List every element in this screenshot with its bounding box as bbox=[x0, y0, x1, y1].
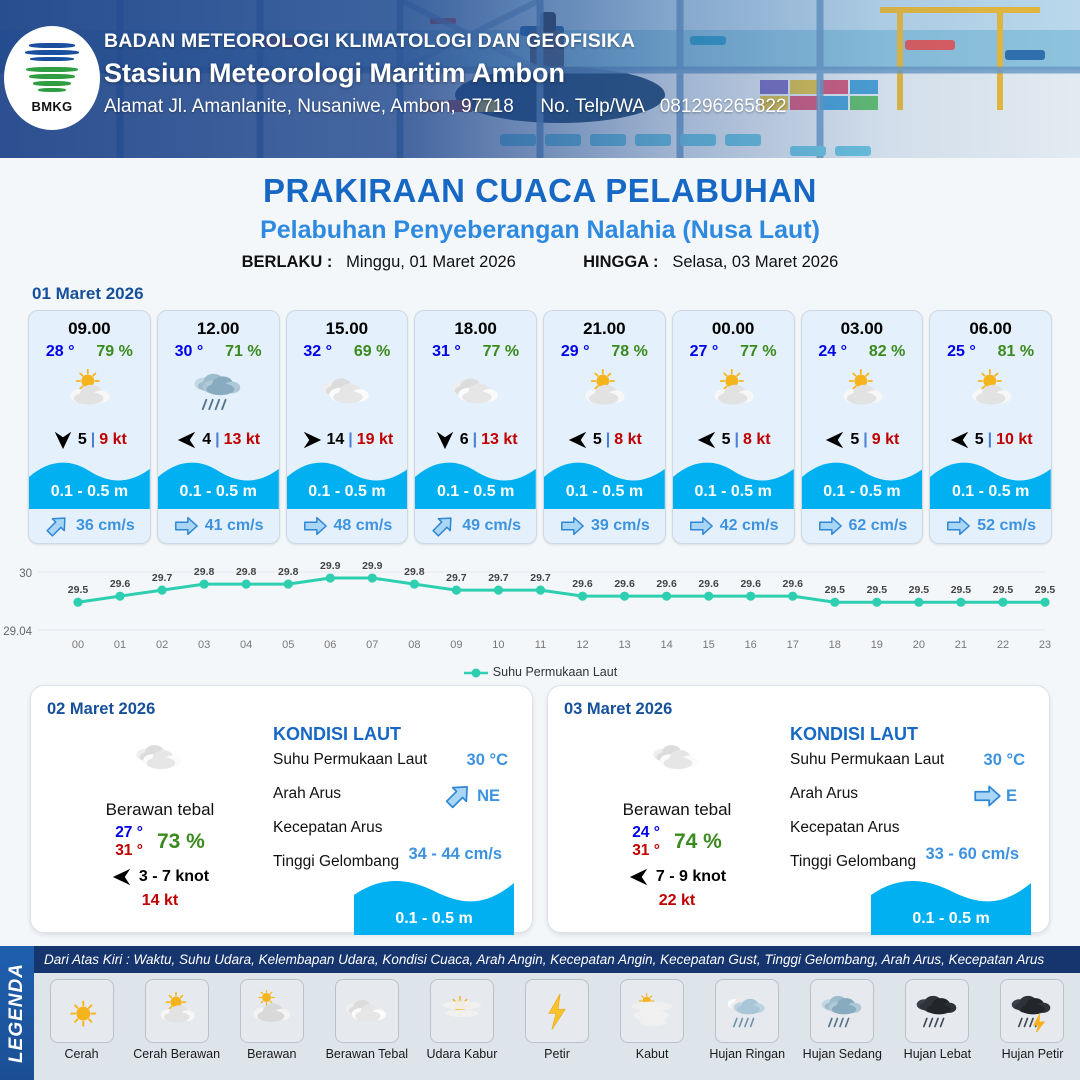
card-wave-height: 0.1 - 0.5 m bbox=[544, 483, 665, 501]
card-weather-icon bbox=[673, 361, 794, 423]
berawan-tebal-icon bbox=[131, 734, 189, 782]
card-temp-humidity: 31 ° 77 % bbox=[415, 339, 536, 361]
card-wind-value: 5 bbox=[78, 431, 87, 449]
legend-note: Dari Atas Kiri : Waktu, Suhu Udara, Kele… bbox=[34, 946, 1080, 973]
card-wave-band: 0.1 - 0.5 m bbox=[415, 457, 536, 509]
card-wind-value: 5 bbox=[722, 431, 731, 449]
card-temp-humidity: 24 ° 82 % bbox=[802, 339, 923, 361]
card-current-speed: 62 cm/s bbox=[849, 517, 908, 535]
legend-item: Berawan Tebal bbox=[319, 979, 414, 1061]
card-wind-value: 14 bbox=[327, 431, 345, 449]
card-wind-row: 6 | 13 kt bbox=[415, 423, 536, 457]
svg-text:18: 18 bbox=[829, 639, 841, 651]
valid-until-value: Selasa, 03 Maret 2026 bbox=[672, 253, 838, 271]
card-time: 09.00 bbox=[29, 311, 150, 339]
svg-text:29.5: 29.5 bbox=[867, 584, 888, 596]
card-current-row: 52 cm/s bbox=[930, 509, 1051, 543]
card-gust-value: 13 kt bbox=[481, 431, 517, 449]
sea-row-label: Suhu Permukaan Laut bbox=[790, 751, 944, 768]
card-gust-value: 8 kt bbox=[614, 431, 642, 449]
card-wave-band: 0.1 - 0.5 m bbox=[544, 457, 665, 509]
svg-text:17: 17 bbox=[787, 639, 799, 651]
udara-kabur-icon bbox=[436, 990, 488, 1033]
card-gust-value: 9 kt bbox=[872, 431, 900, 449]
svg-text:23: 23 bbox=[1039, 639, 1051, 651]
logo-sky-arcs bbox=[24, 43, 80, 65]
kabut-icon bbox=[626, 990, 678, 1033]
chart-legend-marker bbox=[463, 667, 489, 679]
sea-conditions-heading: KONDISI LAUT bbox=[790, 724, 1035, 745]
current-direction-arrow-ne bbox=[430, 513, 456, 539]
card-time: 21.00 bbox=[544, 311, 665, 339]
svg-text:14: 14 bbox=[660, 639, 672, 651]
panel-date: 02 Maret 2026 bbox=[47, 700, 516, 719]
legend-item-label: Hujan Ringan bbox=[700, 1047, 795, 1061]
svg-text:05: 05 bbox=[282, 639, 294, 651]
validity-row: BERLAKU : Minggu, 01 Maret 2026 HINGGA :… bbox=[0, 253, 1080, 272]
wind-direction-arrow-w bbox=[176, 429, 198, 451]
card-wind-value: 6 bbox=[460, 431, 469, 449]
sea-row-label: Suhu Permukaan Laut bbox=[273, 751, 427, 768]
hujan-petir-icon bbox=[1006, 990, 1058, 1033]
sea-row-value: 30 °C bbox=[984, 751, 1025, 770]
svg-text:12: 12 bbox=[576, 639, 588, 651]
card-time: 00.00 bbox=[673, 311, 794, 339]
wind-separator: | bbox=[215, 431, 219, 449]
forecast-card: 00.00 27 ° 77 % 5 | 8 kt 0.1 - 0.5 m bbox=[672, 310, 795, 544]
page-header: BMKG BADAN METEOROLOGI KLIMATOLOGI DAN G… bbox=[0, 0, 1080, 158]
svg-text:20: 20 bbox=[913, 639, 925, 651]
svg-text:29.5: 29.5 bbox=[825, 584, 846, 596]
wind-separator: | bbox=[735, 431, 739, 449]
daily-summary-panel: 03 Maret 2026 Berawan tebal 24 ° 31 ° 74… bbox=[547, 685, 1050, 933]
card-gust-value: 8 kt bbox=[743, 431, 771, 449]
panel-weather-icon bbox=[572, 730, 782, 786]
card-current-speed: 41 cm/s bbox=[205, 517, 264, 535]
svg-text:02: 02 bbox=[156, 639, 168, 651]
legend-item: Hujan Sedang bbox=[795, 979, 890, 1061]
sea-row-wave-height: Tinggi Gelombang 0.1 - 0.5 m bbox=[273, 853, 518, 887]
valid-from-value: Minggu, 01 Maret 2026 bbox=[346, 253, 516, 271]
legend-icon-box bbox=[810, 979, 874, 1043]
card-wave-height: 0.1 - 0.5 m bbox=[415, 483, 536, 501]
page-title: PRAKIRAAN CUACA PELABUHAN bbox=[0, 172, 1080, 210]
cerah-berawan-icon bbox=[703, 367, 763, 416]
hujan-lebat-icon bbox=[911, 990, 963, 1033]
legend-item-label: Hujan Sedang bbox=[795, 1047, 890, 1061]
bmkg-logo: BMKG bbox=[4, 26, 100, 130]
forecast-card: 09.00 28 ° 79 % 5 | 9 kt 0.1 - 0.5 m bbox=[28, 310, 151, 544]
current-direction-arrow-e bbox=[173, 513, 199, 539]
forecast-card: 12.00 30 ° 71 % 4 | 13 kt 0.1 - 0.5 m bbox=[157, 310, 280, 544]
legend-icon-box bbox=[335, 979, 399, 1043]
wind-direction-arrow-w bbox=[824, 429, 846, 451]
card-wave-band: 0.1 - 0.5 m bbox=[930, 457, 1051, 509]
current-direction-arrow-e bbox=[972, 781, 1002, 811]
card-wind-row: 5 | 9 kt bbox=[802, 423, 923, 457]
svg-text:29.7: 29.7 bbox=[488, 572, 509, 584]
card-wave-band: 0.1 - 0.5 m bbox=[673, 457, 794, 509]
card-wind-row: 4 | 13 kt bbox=[158, 423, 279, 457]
card-temp-humidity: 30 ° 71 % bbox=[158, 339, 279, 361]
card-current-row: 36 cm/s bbox=[29, 509, 150, 543]
sea-row-label: Kecepatan Arus bbox=[790, 819, 899, 836]
sea-row-current-direction: Arah Arus E bbox=[790, 785, 1035, 819]
card-weather-icon bbox=[29, 361, 150, 423]
svg-text:29.6: 29.6 bbox=[740, 578, 761, 590]
svg-text:29.8: 29.8 bbox=[404, 566, 425, 578]
card-gust-value: 10 kt bbox=[996, 431, 1032, 449]
card-temp-humidity: 32 ° 69 % bbox=[287, 339, 408, 361]
legend-item: Berawan bbox=[224, 979, 319, 1061]
panel-temp-range: 24 ° 31 ° bbox=[632, 824, 660, 860]
phone-label: No. Telp/WA bbox=[540, 96, 644, 117]
card-time: 06.00 bbox=[930, 311, 1051, 339]
sea-row-value: 30 °C bbox=[467, 751, 508, 770]
svg-text:29.6: 29.6 bbox=[110, 578, 131, 590]
wind-separator: | bbox=[473, 431, 477, 449]
panel-temp-min: 27 ° bbox=[115, 824, 143, 842]
legend-item-label: Udara Kabur bbox=[414, 1047, 509, 1061]
card-current-speed: 42 cm/s bbox=[720, 517, 779, 535]
card-weather-icon bbox=[415, 361, 536, 423]
card-wind-value: 5 bbox=[975, 431, 984, 449]
svg-text:29.8: 29.8 bbox=[278, 566, 299, 578]
legend-icon-box bbox=[240, 979, 304, 1043]
svg-text:22: 22 bbox=[997, 639, 1009, 651]
svg-text:08: 08 bbox=[408, 639, 420, 651]
panel-wave-height: 0.1 - 0.5 m bbox=[354, 910, 514, 928]
card-weather-icon bbox=[544, 361, 665, 423]
svg-text:01: 01 bbox=[114, 639, 126, 651]
legend-item: Cerah bbox=[34, 979, 129, 1061]
title-block: PRAKIRAAN CUACA PELABUHAN Pelabuhan Peny… bbox=[0, 158, 1080, 272]
svg-text:10: 10 bbox=[492, 639, 504, 651]
card-current-speed: 49 cm/s bbox=[462, 517, 521, 535]
svg-text:29.7: 29.7 bbox=[446, 572, 467, 584]
card-humidity: 69 % bbox=[354, 343, 390, 361]
legend-item: Petir bbox=[509, 979, 604, 1061]
panel-sea-conditions: KONDISI LAUT Suhu Permukaan Laut 30 °C A… bbox=[273, 724, 518, 887]
legend-item-label: Cerah Berawan bbox=[129, 1047, 224, 1061]
card-current-row: 49 cm/s bbox=[415, 509, 536, 543]
wind-direction-arrow-w bbox=[949, 429, 971, 451]
svg-text:09: 09 bbox=[450, 639, 462, 651]
card-wave-band: 0.1 - 0.5 m bbox=[29, 457, 150, 509]
card-wave-band: 0.1 - 0.5 m bbox=[158, 457, 279, 509]
card-temperature: 25 ° bbox=[947, 343, 976, 361]
svg-text:29.6: 29.6 bbox=[783, 578, 804, 590]
card-time: 12.00 bbox=[158, 311, 279, 339]
panel-temp-min: 24 ° bbox=[632, 824, 660, 842]
valid-from-label: BERLAKU : bbox=[242, 253, 333, 271]
card-temperature: 24 ° bbox=[818, 343, 847, 361]
panel-left-column: Berawan tebal 24 ° 31 ° 74 % 7 - 9 knot … bbox=[572, 730, 782, 910]
legend-item-label: Cerah bbox=[34, 1047, 129, 1061]
legend-icon-box bbox=[525, 979, 589, 1043]
legend-icon-box bbox=[430, 979, 494, 1043]
panel-wave-band: 0.1 - 0.5 m bbox=[354, 873, 514, 935]
daily-summary-panel: 02 Maret 2026 Berawan tebal 27 ° 31 ° 73… bbox=[30, 685, 533, 933]
card-humidity: 78 % bbox=[611, 343, 647, 361]
svg-text:29.7: 29.7 bbox=[530, 572, 551, 584]
svg-text:04: 04 bbox=[240, 639, 252, 651]
panel-gust: 14 kt bbox=[55, 892, 265, 910]
svg-text:21: 21 bbox=[955, 639, 967, 651]
wind-direction-arrow-e bbox=[301, 429, 323, 451]
sst-chart-svg: 3029.0429.50029.60129.70229.80329.80429.… bbox=[0, 558, 1080, 658]
card-humidity: 82 % bbox=[869, 343, 905, 361]
sea-row-label: Kecepatan Arus bbox=[273, 819, 382, 836]
wind-direction-arrow-w bbox=[111, 866, 133, 888]
sea-row-label: Tinggi Gelombang bbox=[273, 853, 399, 870]
card-current-row: 39 cm/s bbox=[544, 509, 665, 543]
current-direction-arrow-e bbox=[688, 513, 714, 539]
card-current-speed: 48 cm/s bbox=[334, 517, 393, 535]
legend-item: Kabut bbox=[605, 979, 700, 1061]
legend-footer: LEGENDA Dari Atas Kiri : Waktu, Suhu Uda… bbox=[0, 946, 1080, 1080]
card-weather-icon bbox=[930, 361, 1051, 423]
svg-text:30: 30 bbox=[19, 568, 32, 580]
hujan-sedang-icon bbox=[816, 990, 868, 1033]
valid-until-label: HINGGA : bbox=[583, 253, 658, 271]
panel-temp-max: 31 ° bbox=[632, 842, 660, 860]
svg-text:29.5: 29.5 bbox=[1035, 584, 1056, 596]
panel-wind-range: 3 - 7 knot bbox=[139, 868, 209, 886]
legend-item-row: Cerah Cerah Berawan Berawan Berawan Teba… bbox=[34, 973, 1080, 1080]
card-wave-height: 0.1 - 0.5 m bbox=[802, 483, 923, 501]
panel-temp-humidity: 27 ° 31 ° 73 % bbox=[55, 824, 265, 860]
svg-text:15: 15 bbox=[703, 639, 715, 651]
legend-item: Hujan Lebat bbox=[890, 979, 985, 1061]
card-wind-row: 5 | 8 kt bbox=[544, 423, 665, 457]
petir-icon bbox=[531, 990, 583, 1033]
svg-text:11: 11 bbox=[535, 639, 546, 651]
card-wave-height: 0.1 - 0.5 m bbox=[673, 483, 794, 501]
sea-row-wave-height: Tinggi Gelombang 0.1 - 0.5 m bbox=[790, 853, 1035, 887]
card-temperature: 27 ° bbox=[690, 343, 719, 361]
wind-direction-arrow-s bbox=[52, 429, 74, 451]
card-temp-humidity: 25 ° 81 % bbox=[930, 339, 1051, 361]
card-humidity: 77 % bbox=[740, 343, 776, 361]
wind-separator: | bbox=[348, 431, 352, 449]
sea-row-value-with-arrow: NE bbox=[443, 781, 500, 811]
panel-wind-range: 7 - 9 knot bbox=[656, 868, 726, 886]
berawan-tebal-icon bbox=[446, 367, 506, 416]
panel-temp-range: 27 ° 31 ° bbox=[115, 824, 143, 860]
svg-text:29.6: 29.6 bbox=[656, 578, 677, 590]
card-temperature: 28 ° bbox=[46, 343, 75, 361]
berawan-tebal-icon bbox=[648, 734, 706, 782]
svg-text:29.9: 29.9 bbox=[320, 560, 341, 572]
header-text-block: BADAN METEOROLOGI KLIMATOLOGI DAN GEOFIS… bbox=[104, 30, 787, 118]
berawan-tebal-icon bbox=[341, 990, 393, 1033]
panel-condition: Berawan tebal bbox=[55, 800, 265, 820]
address-line: Alamat Jl. Amanlanite, Nusaniwe, Ambon, … bbox=[104, 96, 787, 118]
svg-text:29.5: 29.5 bbox=[909, 584, 930, 596]
card-temp-humidity: 29 ° 78 % bbox=[544, 339, 665, 361]
page-subtitle: Pelabuhan Penyeberangan Nalahia (Nusa La… bbox=[0, 216, 1080, 245]
panel-wave-band: 0.1 - 0.5 m bbox=[871, 873, 1031, 935]
card-wave-height: 0.1 - 0.5 m bbox=[29, 483, 150, 501]
card-current-speed: 39 cm/s bbox=[591, 517, 650, 535]
forecast-card: 03.00 24 ° 82 % 5 | 9 kt 0.1 - 0.5 m bbox=[801, 310, 924, 544]
card-weather-icon bbox=[287, 361, 408, 423]
chart-legend: Suhu Permukaan Laut bbox=[0, 665, 1080, 679]
sea-row-current-direction: Arah Arus NE bbox=[273, 785, 518, 819]
card-temperature: 29 ° bbox=[561, 343, 590, 361]
wind-separator: | bbox=[988, 431, 992, 449]
legend-icon-box bbox=[145, 979, 209, 1043]
chart-legend-label: Suhu Permukaan Laut bbox=[493, 665, 617, 679]
daily-panels: 02 Maret 2026 Berawan tebal 27 ° 31 ° 73… bbox=[0, 679, 1080, 933]
legend-item-label: Berawan Tebal bbox=[319, 1047, 414, 1061]
forecast-card: 21.00 29 ° 78 % 5 | 8 kt 0.1 - 0.5 m bbox=[543, 310, 666, 544]
card-wind-value: 4 bbox=[202, 431, 211, 449]
current-direction-arrow-e bbox=[817, 513, 843, 539]
card-current-row: 48 cm/s bbox=[287, 509, 408, 543]
wind-separator: | bbox=[91, 431, 95, 449]
forecast-card: 18.00 31 ° 77 % 6 | 13 kt 0.1 - 0.5 m bbox=[414, 310, 537, 544]
card-temp-humidity: 27 ° 77 % bbox=[673, 339, 794, 361]
legend-item-label: Petir bbox=[509, 1047, 604, 1061]
card-humidity: 71 % bbox=[225, 343, 261, 361]
svg-text:29.6: 29.6 bbox=[698, 578, 719, 590]
panel-temp-max: 31 ° bbox=[115, 842, 143, 860]
legend-icon-box bbox=[715, 979, 779, 1043]
sea-row-value-with-arrow: E bbox=[972, 781, 1017, 811]
svg-text:03: 03 bbox=[198, 639, 210, 651]
legend-item-label: Hujan Lebat bbox=[890, 1047, 985, 1061]
panel-date: 03 Maret 2026 bbox=[564, 700, 1033, 719]
current-direction-arrow-e bbox=[302, 513, 328, 539]
legend-body: Dari Atas Kiri : Waktu, Suhu Udara, Kele… bbox=[34, 946, 1080, 1080]
cerah-berawan-icon bbox=[832, 367, 892, 416]
card-wave-height: 0.1 - 0.5 m bbox=[287, 483, 408, 501]
sea-row-label: Tinggi Gelombang bbox=[790, 853, 916, 870]
card-humidity: 79 % bbox=[96, 343, 132, 361]
svg-text:13: 13 bbox=[618, 639, 630, 651]
current-direction-arrow-e bbox=[945, 513, 971, 539]
card-current-speed: 36 cm/s bbox=[76, 517, 135, 535]
legend-item: Hujan Petir bbox=[985, 979, 1080, 1061]
logo-green-arcs bbox=[24, 67, 80, 97]
sst-chart: 3029.0429.50029.60129.70229.80329.80429.… bbox=[0, 558, 1080, 663]
legend-side-label: LEGENDA bbox=[6, 963, 28, 1063]
legend-item-label: Kabut bbox=[605, 1047, 700, 1061]
card-wind-value: 5 bbox=[593, 431, 602, 449]
sea-row-sst: Suhu Permukaan Laut 30 °C bbox=[273, 751, 518, 785]
card-gust-value: 13 kt bbox=[224, 431, 260, 449]
svg-text:06: 06 bbox=[324, 639, 336, 651]
svg-text:29.9: 29.9 bbox=[362, 560, 383, 572]
sea-conditions-heading: KONDISI LAUT bbox=[273, 724, 518, 745]
svg-text:29.8: 29.8 bbox=[194, 566, 215, 578]
card-current-row: 42 cm/s bbox=[673, 509, 794, 543]
legend-item-label: Berawan bbox=[224, 1047, 319, 1061]
forecast-date-label: 01 Maret 2026 bbox=[32, 284, 1080, 304]
card-temperature: 31 ° bbox=[432, 343, 461, 361]
svg-text:29.5: 29.5 bbox=[68, 584, 89, 596]
legend-icon-box bbox=[1000, 979, 1064, 1043]
wind-direction-arrow-s bbox=[434, 429, 456, 451]
card-wind-row: 5 | 8 kt bbox=[673, 423, 794, 457]
forecast-card: 06.00 25 ° 81 % 5 | 10 kt 0.1 - 0.5 m bbox=[929, 310, 1052, 544]
card-wave-band: 0.1 - 0.5 m bbox=[802, 457, 923, 509]
forecast-card-row: 09.00 28 ° 79 % 5 | 9 kt 0.1 - 0.5 m bbox=[0, 310, 1080, 544]
panel-wind-row: 3 - 7 knot bbox=[55, 866, 265, 888]
sea-row-current-speed: Kecepatan Arus 33 - 60 cm/s bbox=[790, 819, 1035, 853]
panel-sea-conditions: KONDISI LAUT Suhu Permukaan Laut 30 °C A… bbox=[790, 724, 1035, 887]
card-temperature: 30 ° bbox=[175, 343, 204, 361]
berawan-tebal-icon bbox=[317, 367, 377, 416]
card-wave-height: 0.1 - 0.5 m bbox=[158, 483, 279, 501]
cerah-berawan-icon bbox=[151, 990, 203, 1033]
svg-text:29.04: 29.04 bbox=[3, 626, 32, 638]
card-gust-value: 9 kt bbox=[99, 431, 127, 449]
phone-number: 081296265822 bbox=[660, 96, 787, 117]
svg-text:29.5: 29.5 bbox=[951, 584, 972, 596]
sea-row-current-speed: Kecepatan Arus 34 - 44 cm/s bbox=[273, 819, 518, 853]
legend-item: Udara Kabur bbox=[414, 979, 509, 1061]
cerah-berawan-icon bbox=[961, 367, 1021, 416]
card-wind-value: 5 bbox=[850, 431, 859, 449]
station-name: Stasiun Meteorologi Maritim Ambon bbox=[104, 58, 787, 89]
card-wind-row: 14 | 19 kt bbox=[287, 423, 408, 457]
sea-row-value: E bbox=[1006, 787, 1017, 806]
cerah-icon bbox=[56, 990, 108, 1033]
card-wind-row: 5 | 10 kt bbox=[930, 423, 1051, 457]
card-weather-icon bbox=[802, 361, 923, 423]
agency-name: BADAN METEOROLOGI KLIMATOLOGI DAN GEOFIS… bbox=[104, 30, 787, 53]
panel-humidity: 73 % bbox=[157, 830, 205, 854]
wind-separator: | bbox=[863, 431, 867, 449]
wind-separator: | bbox=[606, 431, 610, 449]
card-current-row: 41 cm/s bbox=[158, 509, 279, 543]
svg-text:29.5: 29.5 bbox=[993, 584, 1014, 596]
current-direction-arrow-e bbox=[559, 513, 585, 539]
svg-text:00: 00 bbox=[72, 639, 84, 651]
address-text: Alamat Jl. Amanlanite, Nusaniwe, Ambon, … bbox=[104, 96, 514, 117]
card-current-speed: 52 cm/s bbox=[977, 517, 1036, 535]
wind-direction-arrow-w bbox=[696, 429, 718, 451]
card-time: 18.00 bbox=[415, 311, 536, 339]
legend-icon-box bbox=[620, 979, 684, 1043]
card-wind-row: 5 | 9 kt bbox=[29, 423, 150, 457]
panel-wave-height: 0.1 - 0.5 m bbox=[871, 910, 1031, 928]
card-humidity: 77 % bbox=[483, 343, 519, 361]
panel-left-column: Berawan tebal 27 ° 31 ° 73 % 3 - 7 knot … bbox=[55, 730, 265, 910]
svg-text:16: 16 bbox=[745, 639, 757, 651]
hujan-sedang-icon bbox=[188, 367, 248, 416]
panel-weather-icon bbox=[55, 730, 265, 786]
card-time: 03.00 bbox=[802, 311, 923, 339]
legend-side-bar: LEGENDA bbox=[0, 946, 34, 1080]
card-current-row: 62 cm/s bbox=[802, 509, 923, 543]
wind-direction-arrow-w bbox=[628, 866, 650, 888]
sea-row-value: NE bbox=[477, 787, 500, 806]
sea-row-sst: Suhu Permukaan Laut 30 °C bbox=[790, 751, 1035, 785]
legend-item: Hujan Ringan bbox=[700, 979, 795, 1061]
card-humidity: 81 % bbox=[998, 343, 1034, 361]
svg-text:29.7: 29.7 bbox=[152, 572, 173, 584]
card-wave-height: 0.1 - 0.5 m bbox=[930, 483, 1051, 501]
card-temp-humidity: 28 ° 79 % bbox=[29, 339, 150, 361]
svg-text:19: 19 bbox=[871, 639, 883, 651]
wind-direction-arrow-w bbox=[567, 429, 589, 451]
panel-temp-humidity: 24 ° 31 ° 74 % bbox=[572, 824, 782, 860]
hujan-ringan-icon bbox=[721, 990, 773, 1033]
